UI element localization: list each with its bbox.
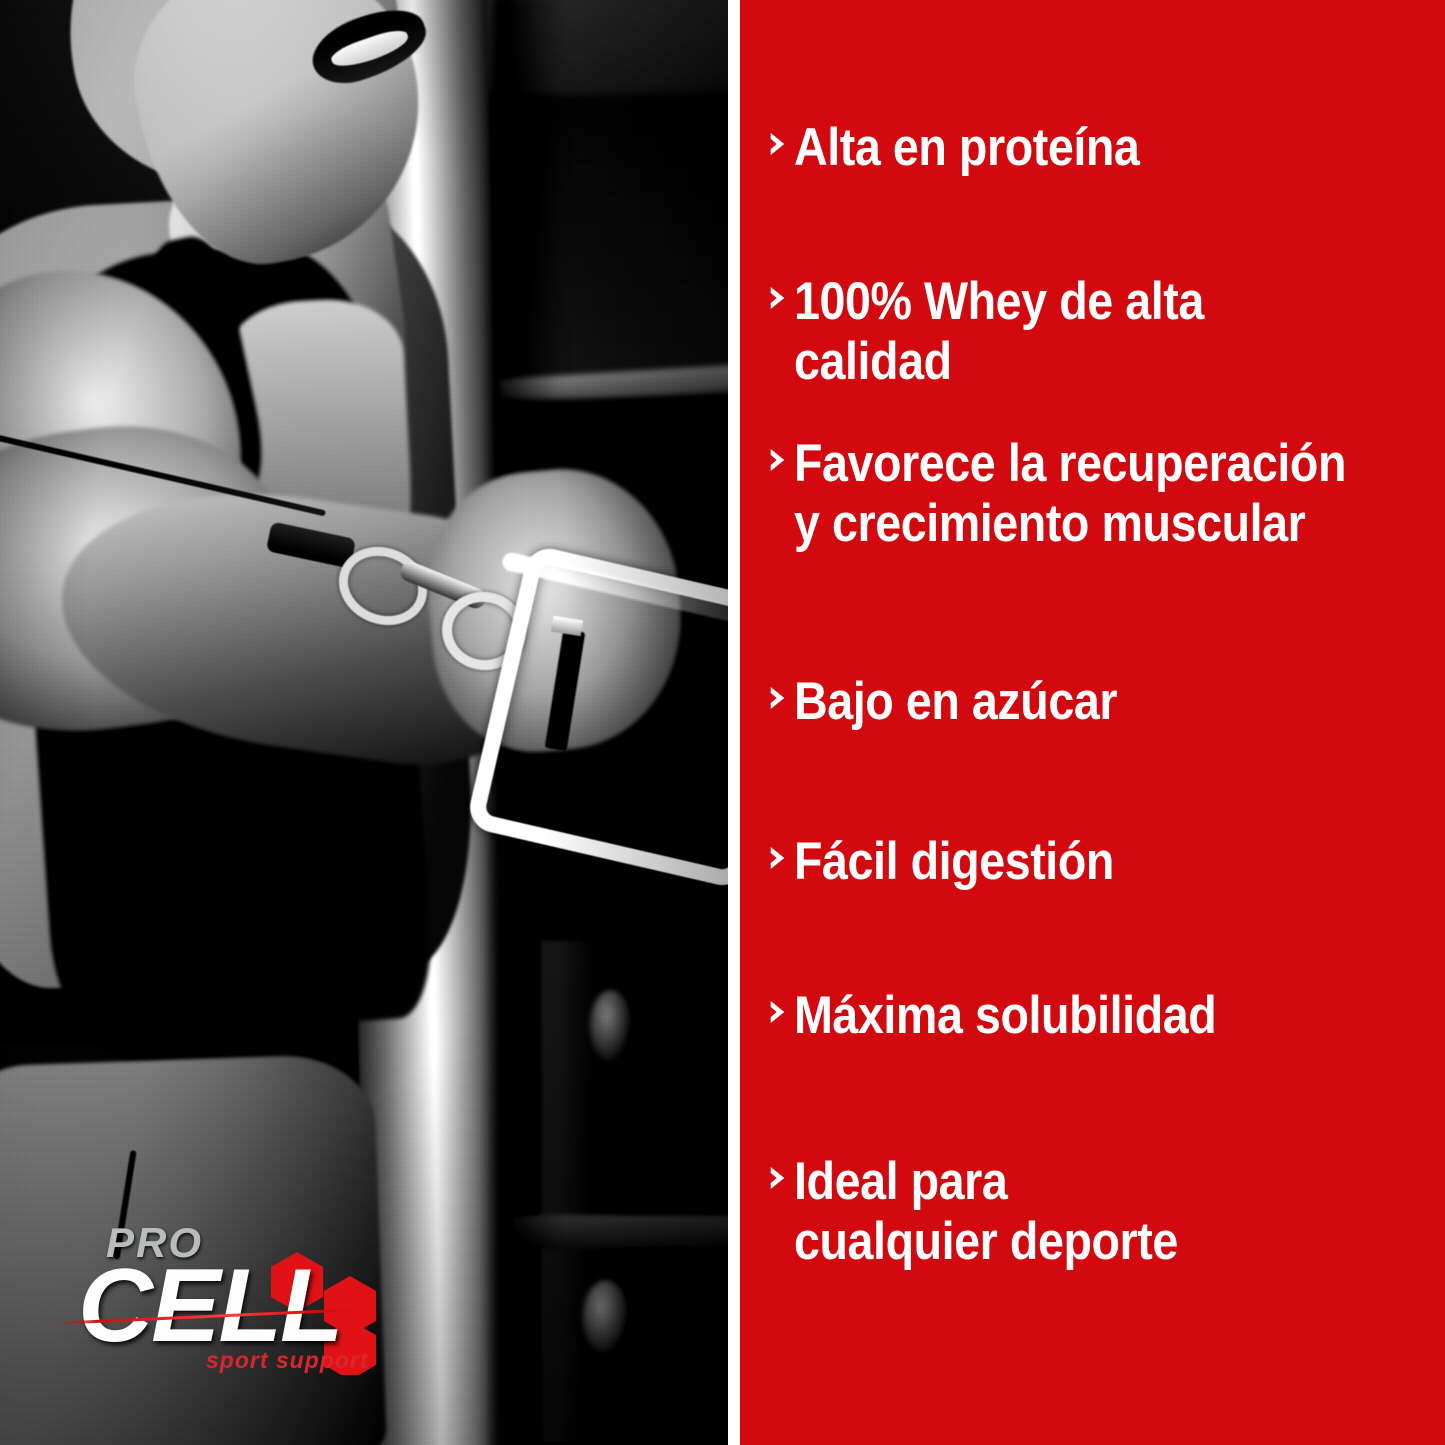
benefits-panel: Alta en proteína 100% Whey de alta calid… bbox=[740, 0, 1445, 1445]
bokeh-highlight-lower bbox=[583, 1280, 629, 1354]
product-benefits-banner: PRO CELL sport support Alta en proteína bbox=[0, 0, 1445, 1445]
benefit-item-maxima-solubilidad: Máxima solubilidad bbox=[760, 986, 1445, 1046]
logo-tagline: sport support bbox=[206, 1349, 369, 1372]
benefit-label: Ideal para cualquier deporte bbox=[794, 1152, 1371, 1273]
procell-logo: PRO CELL sport support bbox=[78, 1222, 368, 1392]
chevron-right-icon bbox=[760, 434, 794, 472]
chevron-right-icon bbox=[760, 832, 794, 870]
chevron-right-icon bbox=[760, 118, 794, 156]
bokeh-highlight-upper bbox=[590, 990, 632, 1062]
chevron-right-icon bbox=[760, 1152, 794, 1190]
athlete-photo-panel: PRO CELL sport support bbox=[0, 0, 728, 1445]
benefit-label: Favorece la recuperación y crecimiento m… bbox=[794, 434, 1371, 555]
benefit-label: Bajo en azúcar bbox=[794, 672, 1371, 732]
benefit-item-recuperacion: Favorece la recuperación y crecimiento m… bbox=[760, 434, 1445, 555]
benefit-item-whey-alta-calidad: 100% Whey de alta calidad bbox=[760, 272, 1445, 393]
logo-cell-text: CELL bbox=[78, 1254, 342, 1358]
benefit-item-ideal-deporte: Ideal para cualquier deporte bbox=[760, 1152, 1445, 1273]
chevron-right-icon bbox=[760, 272, 794, 310]
chevron-right-icon bbox=[760, 672, 794, 710]
benefit-label: Alta en proteína bbox=[794, 118, 1371, 178]
benefit-item-facil-digestion: Fácil digestión bbox=[760, 832, 1445, 892]
benefit-item-alta-en-proteina: Alta en proteína bbox=[760, 118, 1445, 178]
benefit-label: 100% Whey de alta calidad bbox=[794, 272, 1371, 393]
benefit-label: Fácil digestión bbox=[794, 832, 1371, 892]
chevron-right-icon bbox=[760, 986, 794, 1024]
benefit-label: Máxima solubilidad bbox=[794, 986, 1371, 1046]
benefit-item-bajo-en-azucar: Bajo en azúcar bbox=[760, 672, 1445, 732]
